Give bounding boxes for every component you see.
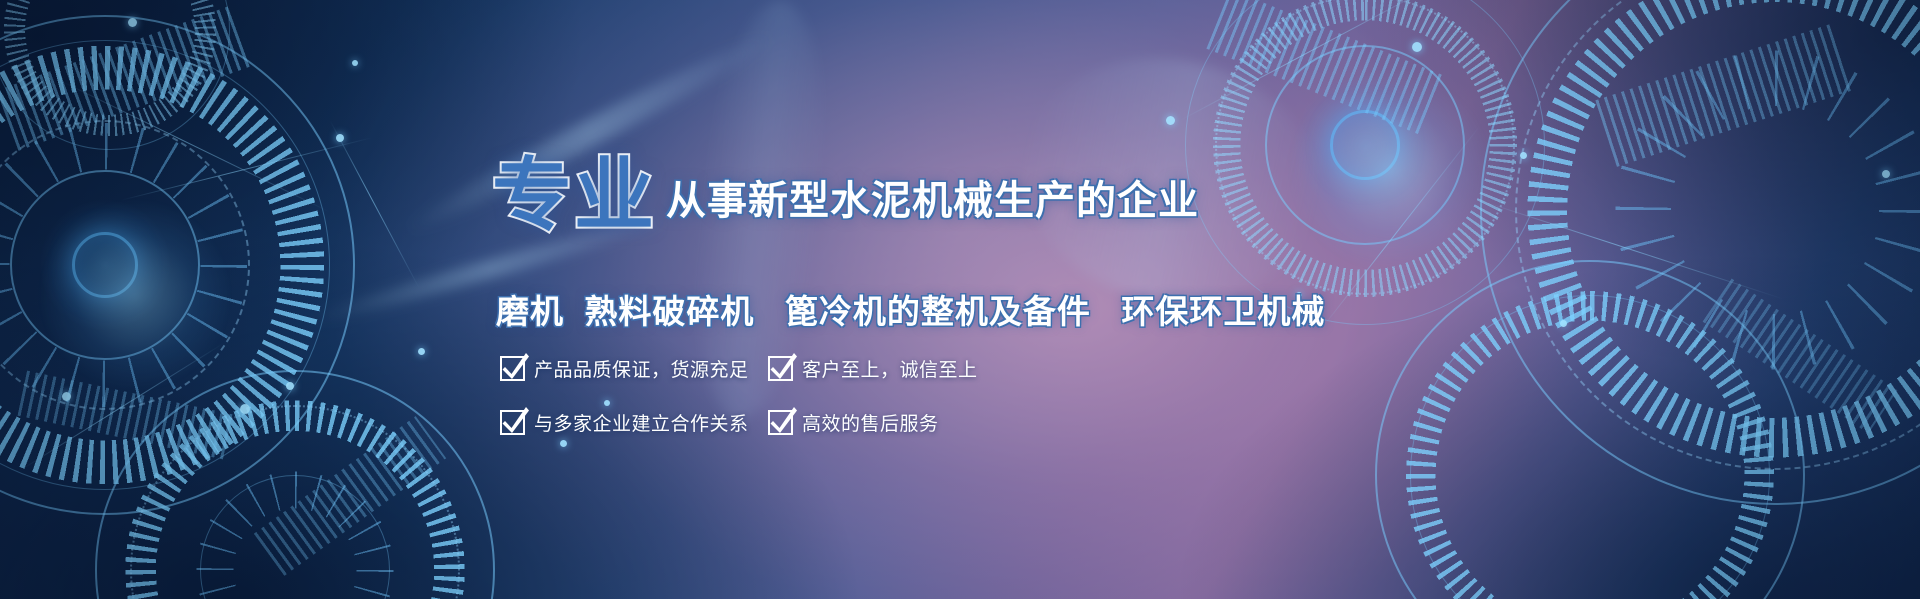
feature-bullet: 与多家企业建立合作关系 xyxy=(500,406,768,438)
check-icon xyxy=(500,410,525,435)
product-line-text: 磨机 熟料破碎机 篦冷机的整机及备件 环保环卫机械 xyxy=(496,285,1325,333)
headline-main: 专业 xyxy=(492,158,656,235)
feature-bullet: 高效的售后服务 xyxy=(768,406,968,438)
check-icon xyxy=(768,356,793,381)
headline-row: 专业 从事新型水泥机械生产的企业 xyxy=(492,158,1199,235)
feature-bullet-label: 产品品质保证，货源充足 xyxy=(534,355,749,382)
banner-content: 专业 从事新型水泥机械生产的企业 磨机 熟料破碎机 篦冷机的整机及备件 环保环卫… xyxy=(0,0,1920,599)
feature-bullet-list: 产品品质保证，货源充足 客户至上，诚信至上 与多家企业建立合作关系 xyxy=(500,352,970,438)
hero-banner: 专业 从事新型水泥机械生产的企业 磨机 熟料破碎机 篦冷机的整机及备件 环保环卫… xyxy=(0,0,1920,599)
feature-bullet-label: 与多家企业建立合作关系 xyxy=(534,409,749,436)
feature-bullet: 产品品质保证，货源充足 xyxy=(500,352,768,384)
feature-bullet-label: 高效的售后服务 xyxy=(802,409,939,436)
check-icon xyxy=(500,356,525,381)
headline-subtitle: 从事新型水泥机械生产的企业 xyxy=(666,168,1199,226)
feature-bullet-label: 客户至上，诚信至上 xyxy=(802,355,978,382)
check-icon xyxy=(768,410,793,435)
feature-bullet: 客户至上，诚信至上 xyxy=(768,352,968,384)
